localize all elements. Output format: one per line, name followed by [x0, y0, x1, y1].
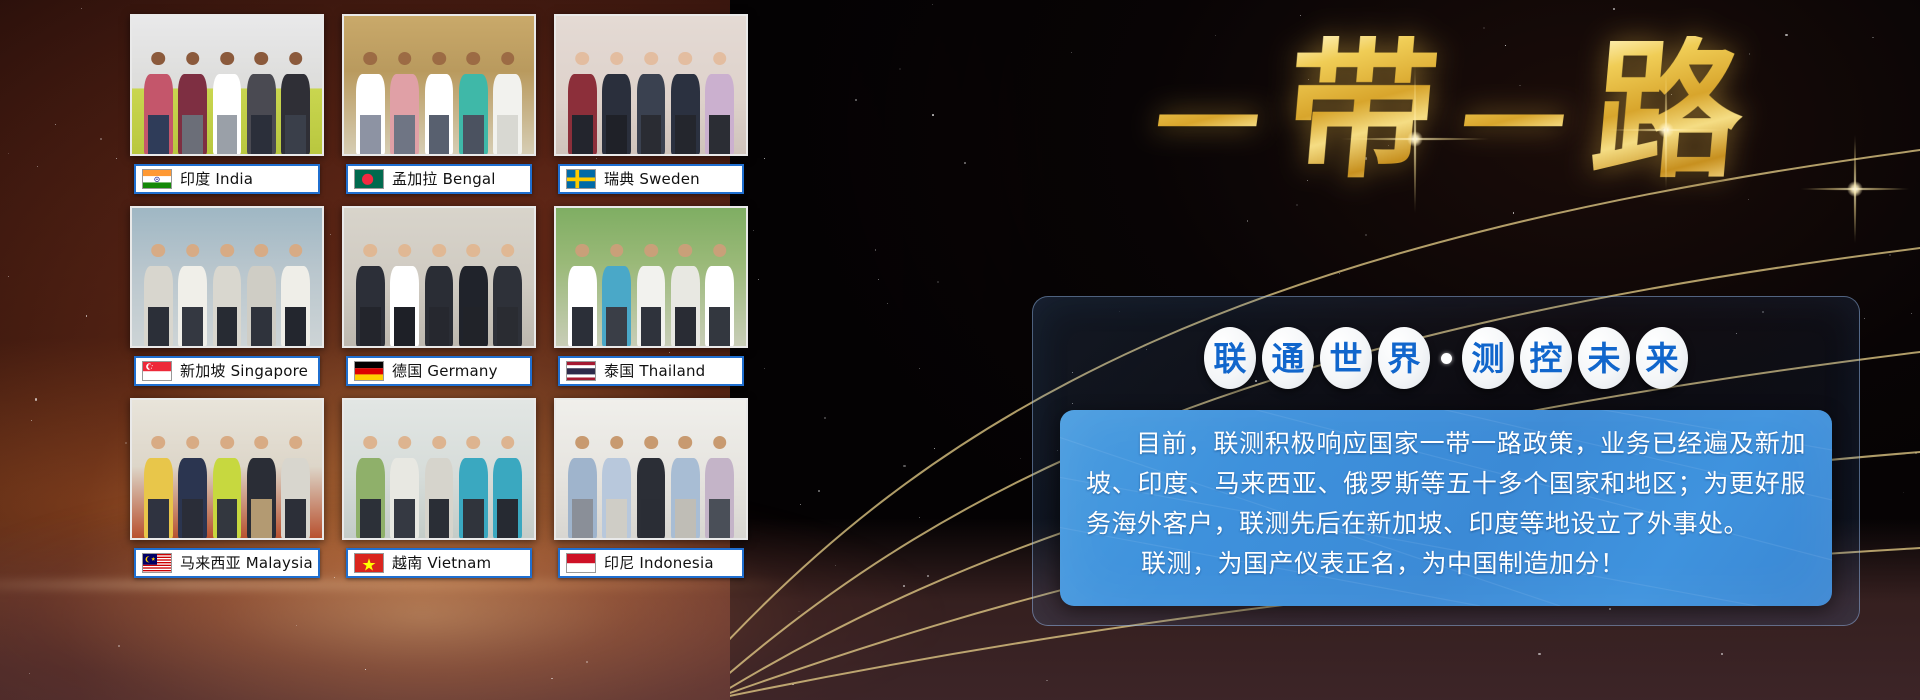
indonesia-flag	[566, 553, 596, 573]
country-label-text: 孟加拉 Bengal	[392, 172, 496, 187]
photo-person	[601, 52, 633, 154]
country-photo	[554, 206, 748, 348]
country-label-text: 印度 India	[180, 172, 253, 187]
country-label: 新加坡 Singapore	[134, 356, 320, 386]
photo-person	[635, 436, 667, 538]
country-photo	[554, 398, 748, 540]
country-label-text: 瑞典 Sweden	[604, 172, 700, 187]
photo-person	[423, 244, 455, 346]
sweden-flag	[566, 169, 596, 189]
photo-person	[635, 52, 667, 154]
photo-person	[457, 436, 489, 538]
country-photo	[130, 206, 324, 348]
photo-person	[669, 52, 701, 154]
photo-person	[177, 244, 209, 346]
photo-person	[354, 436, 386, 538]
gallery-item: 瑞典 Sweden	[554, 14, 748, 198]
country-photo	[342, 206, 536, 348]
country-label-text: 印尼 Indonesia	[604, 556, 714, 571]
photo-person	[211, 52, 243, 154]
photo-person	[491, 244, 523, 346]
country-photo-grid: 印度 India孟加拉 Bengal瑞典 Sweden新加坡 Singapore…	[130, 14, 762, 590]
photo-person	[142, 436, 174, 538]
bangladesh-flag	[354, 169, 384, 189]
country-photo	[130, 398, 324, 540]
photo-person	[566, 436, 598, 538]
photo-person	[389, 436, 421, 538]
photo-person	[423, 52, 455, 154]
slogan-badge-7: 控	[1520, 327, 1572, 389]
photo-person	[457, 244, 489, 346]
gallery-item: 马来西亚 Malaysia	[130, 398, 324, 582]
slogan-badge-4: 界	[1378, 327, 1430, 389]
photo-person	[211, 436, 243, 538]
country-label: 印尼 Indonesia	[558, 548, 744, 578]
photo-person	[703, 244, 735, 346]
photo-person	[177, 52, 209, 154]
country-label: 德国 Germany	[346, 356, 532, 386]
headline-calligraphy: 一 带 一 路	[1010, 6, 1890, 216]
slogan-badge-3: 世	[1320, 327, 1372, 389]
country-photo	[342, 398, 536, 540]
india-flag	[142, 169, 172, 189]
country-label-text: 新加坡 Singapore	[180, 364, 308, 379]
slogan-separator-dot	[1436, 348, 1456, 368]
country-photo	[554, 14, 748, 156]
gallery-item: 德国 Germany	[342, 206, 536, 390]
photo-person	[245, 52, 277, 154]
country-label-text: 德国 Germany	[392, 364, 498, 379]
country-photo	[130, 14, 324, 156]
headline-char-4: 路	[1586, 36, 1749, 186]
photo-person	[245, 436, 277, 538]
country-label: 越南 Vietnam	[346, 548, 532, 578]
gallery-item: 泰国 Thailand	[554, 206, 748, 390]
photo-person	[566, 244, 598, 346]
country-label: 印度 India	[134, 164, 320, 194]
photo-person	[245, 244, 277, 346]
photo-person	[635, 244, 667, 346]
photo-person	[354, 52, 386, 154]
slogan-badge-1: 联	[1204, 327, 1256, 389]
vietnam-flag	[354, 553, 384, 573]
country-label: 马来西亚 Malaysia	[134, 548, 320, 578]
photo-person	[423, 436, 455, 538]
photo-person	[491, 52, 523, 154]
gallery-item: 孟加拉 Bengal	[342, 14, 536, 198]
photo-person	[279, 436, 311, 538]
photo-person	[703, 436, 735, 538]
country-photo	[342, 14, 536, 156]
info-paragraph-main: 目前，联测积极响应国家一带一路政策，业务已经遍及新加坡、印度、马来西亚、俄罗斯等…	[1086, 424, 1806, 544]
headline-char-1: 一	[1148, 73, 1267, 177]
slogan-badge-6: 测	[1462, 327, 1514, 389]
photo-person	[457, 52, 489, 154]
info-panel-textbox: 目前，联测积极响应国家一带一路政策，业务已经遍及新加坡、印度、马来西亚、俄罗斯等…	[1060, 410, 1832, 606]
photo-person	[389, 52, 421, 154]
gallery-item: 印度 India	[130, 14, 324, 198]
photo-person	[142, 244, 174, 346]
country-label-text: 泰国 Thailand	[604, 364, 705, 379]
country-label: 孟加拉 Bengal	[346, 164, 532, 194]
photo-person	[354, 244, 386, 346]
photo-person	[566, 52, 598, 154]
photo-person	[703, 52, 735, 154]
slogan-badges: 联通世界测控未来	[1032, 316, 1860, 400]
photo-person	[601, 244, 633, 346]
country-label-text: 越南 Vietnam	[392, 556, 491, 571]
photo-person	[211, 244, 243, 346]
singapore-flag	[142, 361, 172, 381]
gallery-item: 越南 Vietnam	[342, 398, 536, 582]
photo-person	[142, 52, 174, 154]
headline-char-3: 一	[1454, 73, 1573, 177]
slogan-badge-9: 来	[1636, 327, 1688, 389]
germany-flag	[354, 361, 384, 381]
photo-person	[601, 436, 633, 538]
photo-person	[491, 436, 523, 538]
thailand-flag	[566, 361, 596, 381]
malaysia-flag	[142, 553, 172, 573]
photo-person	[389, 244, 421, 346]
slogan-badge-2: 通	[1262, 327, 1314, 389]
gallery-item: 新加坡 Singapore	[130, 206, 324, 390]
promotional-banner: 印度 India孟加拉 Bengal瑞典 Sweden新加坡 Singapore…	[0, 0, 1920, 700]
photo-person	[669, 436, 701, 538]
photo-person	[279, 52, 311, 154]
slogan-badge-8: 未	[1578, 327, 1630, 389]
photo-person	[177, 436, 209, 538]
photo-person	[669, 244, 701, 346]
country-label: 泰国 Thailand	[558, 356, 744, 386]
country-label-text: 马来西亚 Malaysia	[180, 556, 313, 571]
gallery-item: 印尼 Indonesia	[554, 398, 748, 582]
photo-person	[279, 244, 311, 346]
info-paragraph-tagline: 联测，为国产仪表正名，为中国制造加分！	[1086, 544, 1806, 584]
country-label: 瑞典 Sweden	[558, 164, 744, 194]
headline-char-2: 带	[1280, 36, 1443, 186]
